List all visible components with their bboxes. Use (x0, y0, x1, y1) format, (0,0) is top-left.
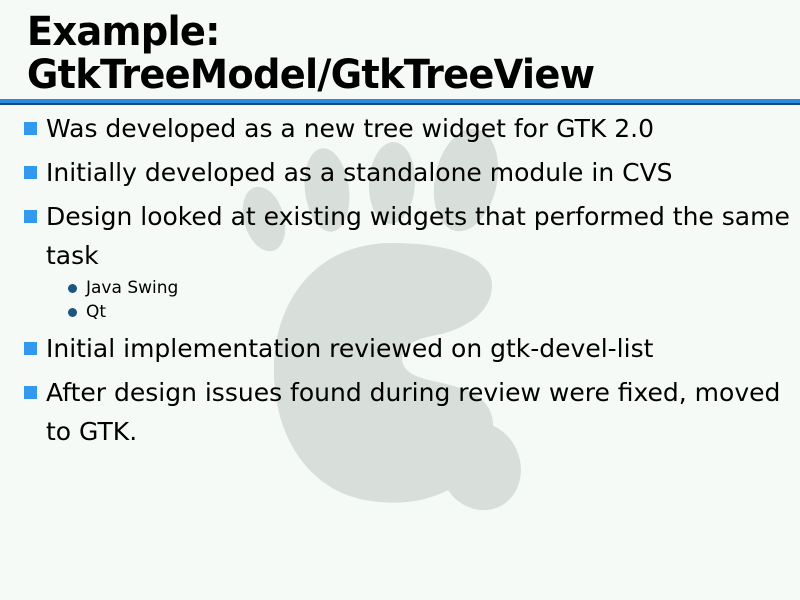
bullet-item: After design issues found during review … (0, 373, 800, 451)
slide: Example: GtkTreeModel/GtkTreeView Was de… (0, 0, 800, 600)
square-bullet-icon (24, 166, 37, 179)
bullet-text: Design looked at existing widgets that p… (46, 197, 790, 275)
sub-bullet-text: Java Swing (86, 278, 178, 298)
bullet-item: Initial implementation reviewed on gtk-d… (0, 329, 800, 368)
sub-bullet-item: Qt (46, 300, 790, 324)
sub-bullet-text: Qt (86, 302, 106, 322)
bullet-text: After design issues found during review … (46, 373, 790, 451)
bullet-text: Initial implementation reviewed on gtk-d… (46, 329, 790, 368)
square-bullet-icon (24, 210, 37, 223)
title-block: Example: GtkTreeModel/GtkTreeView (0, 0, 800, 97)
slide-body: Was developed as a new tree widget for G… (0, 109, 800, 456)
round-bullet-icon (68, 284, 77, 293)
sub-bullet-item: Java Swing (46, 276, 790, 300)
bullet-text: Was developed as a new tree widget for G… (46, 109, 790, 148)
square-bullet-icon (24, 342, 37, 355)
bullet-item: Design looked at existing widgets that p… (0, 197, 800, 324)
bullet-item: Was developed as a new tree widget for G… (0, 109, 800, 148)
square-bullet-icon (24, 122, 37, 135)
bullet-item: Initially developed as a standalone modu… (0, 153, 800, 192)
title-divider (0, 99, 800, 105)
divider-dark-bar (0, 103, 800, 105)
square-bullet-icon (24, 386, 37, 399)
round-bullet-icon (68, 308, 77, 317)
page-title: Example: GtkTreeModel/GtkTreeView (0, 0, 768, 97)
sub-bullet-list: Java Swing Qt (46, 276, 790, 324)
bullet-text: Initially developed as a standalone modu… (46, 153, 790, 192)
bullet-list: Was developed as a new tree widget for G… (0, 109, 800, 451)
